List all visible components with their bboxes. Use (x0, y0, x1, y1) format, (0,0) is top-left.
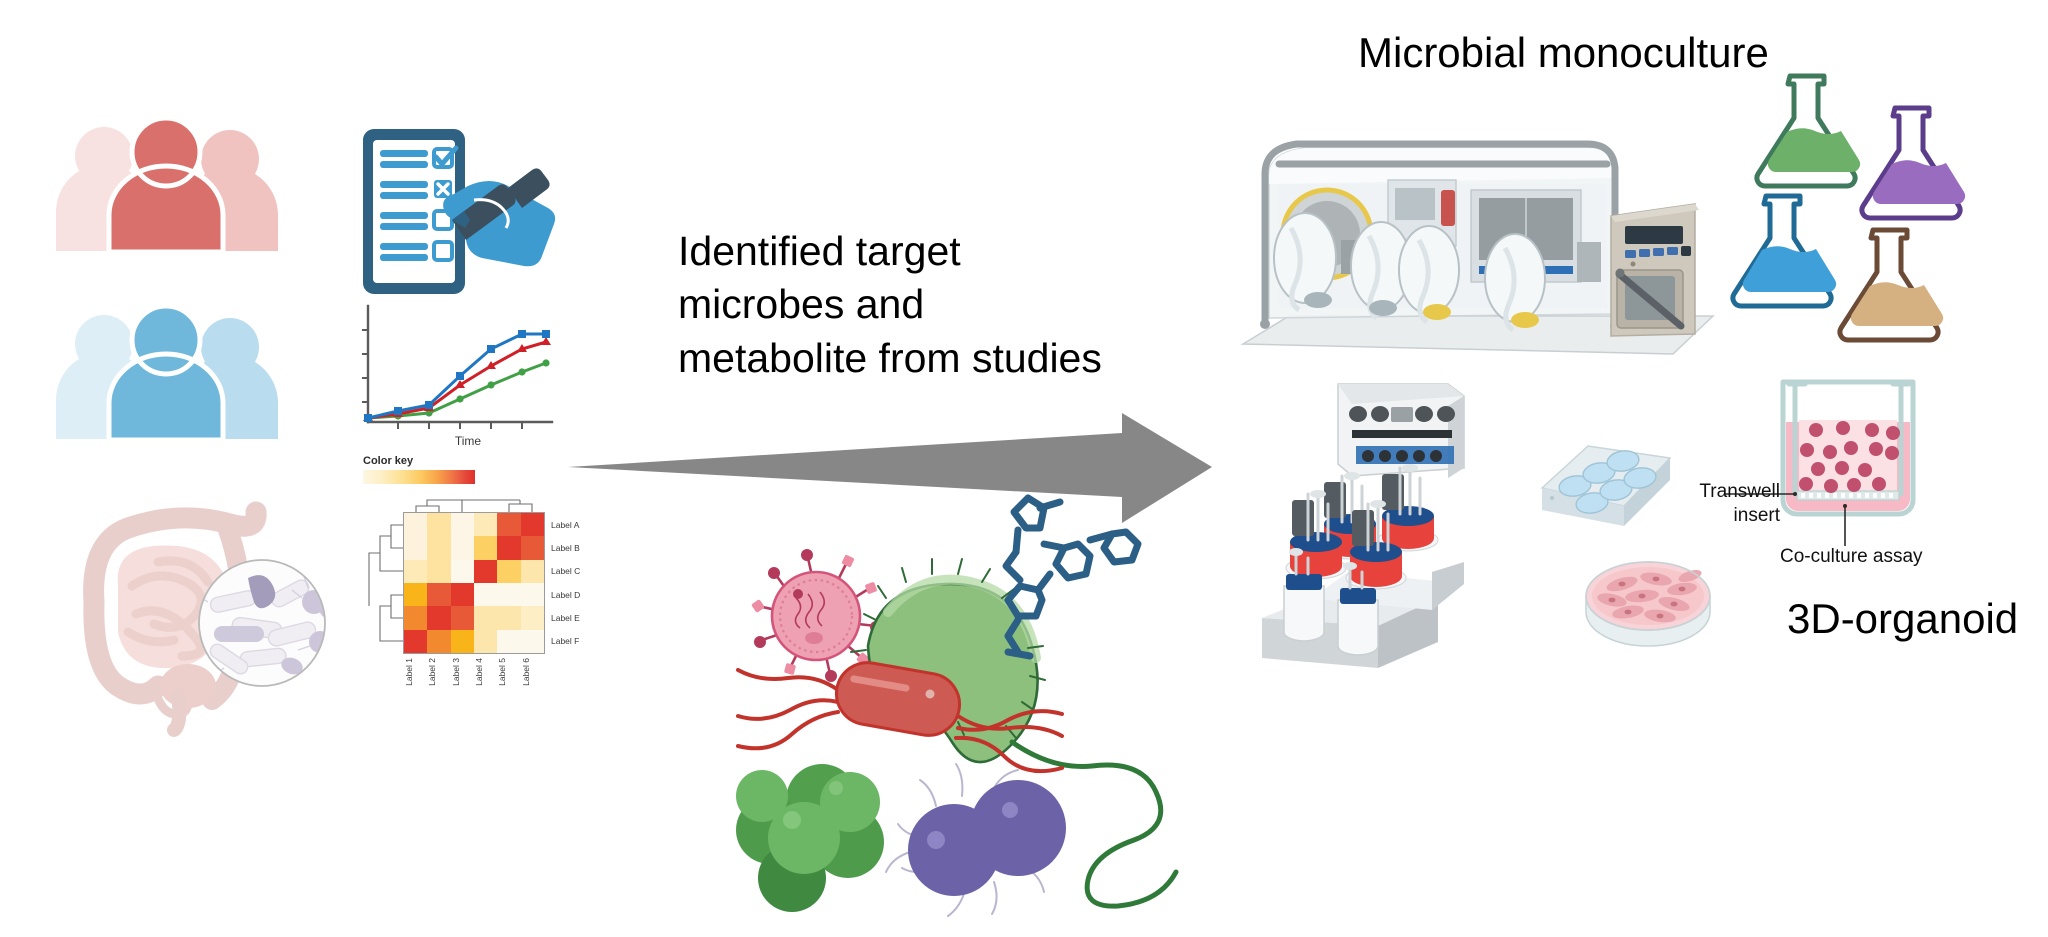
heatmap-column-labels: Label 1 Label 2 Label 3 Label 4 Label 5 … (404, 658, 544, 686)
heatmap-cell (404, 560, 427, 583)
heatmap-col-label: Label 3 (451, 658, 474, 686)
heatmap-cell (427, 583, 450, 606)
heatmap-cell (497, 630, 520, 653)
heatmap-row-label: Label D (551, 583, 580, 606)
heatmap-cell (521, 606, 544, 629)
checkbox-crossed-icon (434, 180, 452, 198)
heatmap-cell (427, 513, 450, 536)
color-key-gradient (363, 470, 475, 484)
heatmap-cell (404, 630, 427, 653)
heatmap-cell (497, 583, 520, 606)
heatmap-cell (474, 630, 497, 653)
heatmap-grid (404, 513, 544, 653)
transwell-insert-label: Transwell insert (1670, 480, 1780, 528)
heatmap-cell (404, 583, 427, 606)
heatmap-cell (497, 513, 520, 536)
flask-purple-icon (1862, 108, 1965, 218)
heatmap-cell (521, 560, 544, 583)
heatmap-cell (404, 606, 427, 629)
clustered-heatmap: Label A Label B Label C Label D Label E … (363, 495, 593, 700)
heatmap-cell (404, 513, 427, 536)
porous-membrane (1797, 491, 1899, 500)
heatmap-cell (521, 583, 544, 606)
heatmap-row-dendrogram (363, 513, 403, 653)
heatmap-col-label: Label 6 (521, 658, 544, 686)
six-well-plate (1536, 432, 1676, 542)
microbe-collection (700, 490, 1220, 890)
heatmap-color-key: Color key (363, 455, 475, 484)
heatmap-cell (521, 630, 544, 653)
anaerobic-glovebox-chamber (1243, 118, 1733, 368)
heatmap-cell (474, 560, 497, 583)
flask-tan-icon (1840, 230, 1943, 340)
heatmap-cell (451, 630, 474, 653)
heatmap-cell (474, 513, 497, 536)
heatmap-cell (451, 583, 474, 606)
multi-vessel-bioreactor (1252, 372, 1512, 672)
heatmap-cell (427, 560, 450, 583)
growth-curve-chart: Time (356, 300, 564, 450)
coculture-assay-label: Co-culture assay (1780, 545, 1923, 569)
chart-xlabel: Time (455, 434, 482, 448)
heatmap-cell (497, 560, 520, 583)
heatmap-row-label: Label F (551, 630, 580, 653)
transwell-coculture-well (1773, 378, 1933, 528)
series-1-blue (364, 330, 550, 422)
flask-blue-icon (1733, 196, 1836, 306)
control-cohort-icon (42, 300, 292, 440)
heatmap-row-label: Label E (551, 606, 580, 629)
culture-flasks-group (1745, 62, 2040, 342)
heatmap-cell (451, 606, 474, 629)
section-title-microbial-monoculture: Microbial monoculture (1358, 26, 1769, 81)
heatmap-cell (521, 513, 544, 536)
organoid-label: 3D-organoid (1787, 592, 2018, 647)
heatmap-col-label: Label 5 (497, 658, 520, 686)
intestine-with-microbiota-inset (62, 490, 352, 730)
heatmap-cell (404, 536, 427, 559)
heatmap-cell (451, 513, 474, 536)
heatmap-cell (427, 536, 450, 559)
arrow-caption: Identified target microbes and metabolit… (678, 225, 1148, 385)
heatmap-row-label: Label B (551, 536, 580, 559)
heatmap-cell (451, 560, 474, 583)
checklist-clipboard-icon (356, 124, 564, 299)
vibrio-flagellated-bacterium-icon (851, 559, 1176, 937)
heatmap-cell (451, 536, 474, 559)
heatmap-col-label: Label 1 (404, 658, 427, 686)
heatmap-cell (427, 606, 450, 629)
heatmap-col-label: Label 2 (427, 658, 450, 686)
heatmap-cell (521, 536, 544, 559)
figure-canvas: Time Color key (0, 0, 2048, 937)
heatmap-col-label: Label 4 (474, 658, 497, 686)
heatmap-row-label: Label C (551, 560, 580, 583)
heatmap-cell (474, 536, 497, 559)
patient-cohort-icon (42, 112, 292, 252)
heatmap-column-dendrogram (404, 495, 544, 513)
petri-dish-cell-culture (1578, 548, 1718, 658)
heatmap-cell (427, 630, 450, 653)
diplococcus-pair-icon (886, 764, 1066, 916)
flask-green-icon (1757, 76, 1860, 186)
heatmap-cell (474, 606, 497, 629)
coccus-cluster-icon (736, 764, 884, 912)
heatmap-cell (497, 536, 520, 559)
chart-axes (368, 306, 552, 422)
heatmap-cell (497, 606, 520, 629)
heatmap-cell (474, 583, 497, 606)
heatmap-row-labels: Label A Label B Label C Label D Label E … (551, 513, 580, 653)
color-key-title: Color key (363, 455, 475, 467)
